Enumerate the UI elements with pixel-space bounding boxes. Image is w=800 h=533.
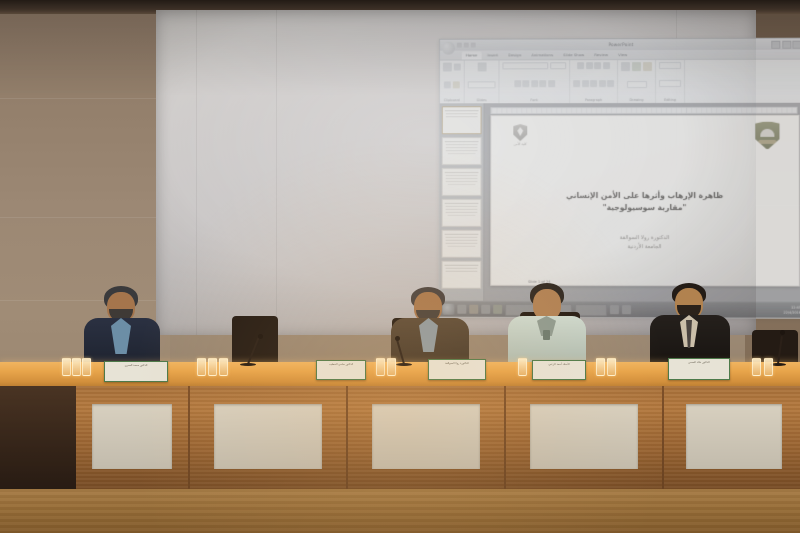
nameplate-text: الأستاذ أحمد الزعبي <box>533 361 585 367</box>
drinking-glass <box>62 358 71 376</box>
drinking-glass <box>197 358 206 376</box>
dais-panel <box>76 386 190 491</box>
drinking-glass <box>376 358 385 376</box>
drinking-glass <box>596 358 605 376</box>
drinking-glass <box>518 358 527 376</box>
conference-hall-scene: PowerPoint Home Insert Design <box>0 0 800 533</box>
nameplate-text: الدكتور محمد العمري <box>105 362 167 368</box>
nameplate: الأستاذ أحمد الزعبي <box>532 360 586 380</box>
dais-panel <box>664 386 800 491</box>
nameplate: الدكتور سامي الخطيب <box>316 360 366 380</box>
projection-screen: PowerPoint Home Insert Design <box>156 10 756 335</box>
dais-panel-inset <box>214 404 322 469</box>
nameplate-text: الدكتور سامي الخطيب <box>317 361 365 367</box>
drinking-glass <box>82 358 91 376</box>
dais-panel-inset <box>686 404 782 469</box>
close-icon[interactable] <box>792 40 800 48</box>
nameplate-text: الدكتورة رولا السوالقة <box>429 360 485 366</box>
badge-lanyard <box>543 330 550 340</box>
nameplate: الدكتور خالد الحسن <box>668 358 730 380</box>
taskbar-clock[interactable]: 12:45 22/4/2016 <box>783 306 800 315</box>
nameplate-text: الدكتور خالد الحسن <box>669 359 729 365</box>
dais-front <box>0 386 800 491</box>
dais-panel-inset <box>530 404 638 469</box>
nameplate: الدكتور محمد العمري <box>104 361 168 382</box>
dais-panel <box>190 386 348 491</box>
drinking-glass <box>208 358 217 376</box>
dais-panel-inset <box>372 404 480 469</box>
microphone <box>396 334 412 366</box>
drinking-glass <box>752 358 761 376</box>
drinking-glass <box>607 358 616 376</box>
window-controls[interactable] <box>771 40 800 48</box>
nameplate: الدكتورة رولا السوالقة <box>428 359 486 380</box>
minimize-icon[interactable] <box>771 40 780 48</box>
drinking-glass <box>72 358 81 376</box>
maximize-icon[interactable] <box>782 40 791 48</box>
drinking-glass <box>387 358 396 376</box>
drinking-glass <box>219 358 228 376</box>
clock-date: 22/4/2016 <box>783 310 800 314</box>
dais-side-shadow <box>0 386 76 491</box>
shield-logo-green <box>754 121 780 150</box>
microphone <box>240 332 256 366</box>
drinking-glass <box>764 358 773 376</box>
floor <box>0 489 800 533</box>
dais-panel <box>348 386 506 491</box>
dais-panel <box>506 386 664 491</box>
dais-panel-inset <box>92 404 172 469</box>
